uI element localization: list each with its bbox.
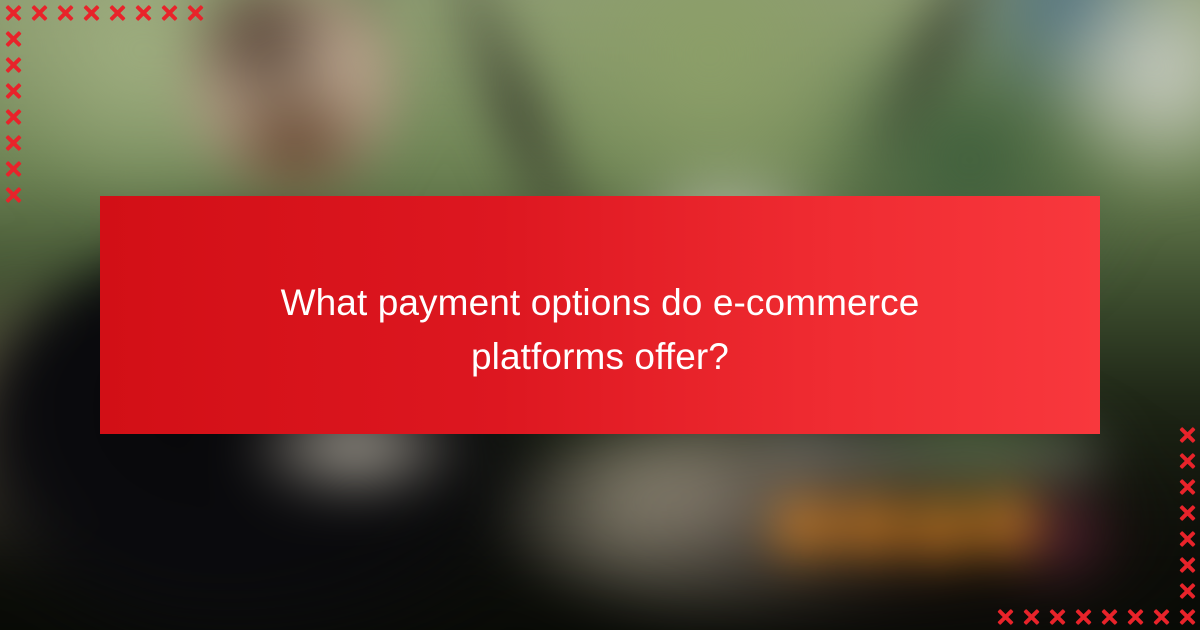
poster-canvas: What payment options do e-commerce platf…	[0, 0, 1200, 630]
headline-banner: What payment options do e-commerce platf…	[100, 196, 1100, 434]
railing-bar	[770, 438, 1100, 480]
lamp-glow-1	[768, 496, 842, 558]
lamp-glow-2	[835, 496, 909, 558]
headline-text: What payment options do e-commerce platf…	[250, 276, 950, 383]
lamp-glow-3	[902, 498, 976, 560]
lamp-glow-4	[968, 494, 1042, 556]
